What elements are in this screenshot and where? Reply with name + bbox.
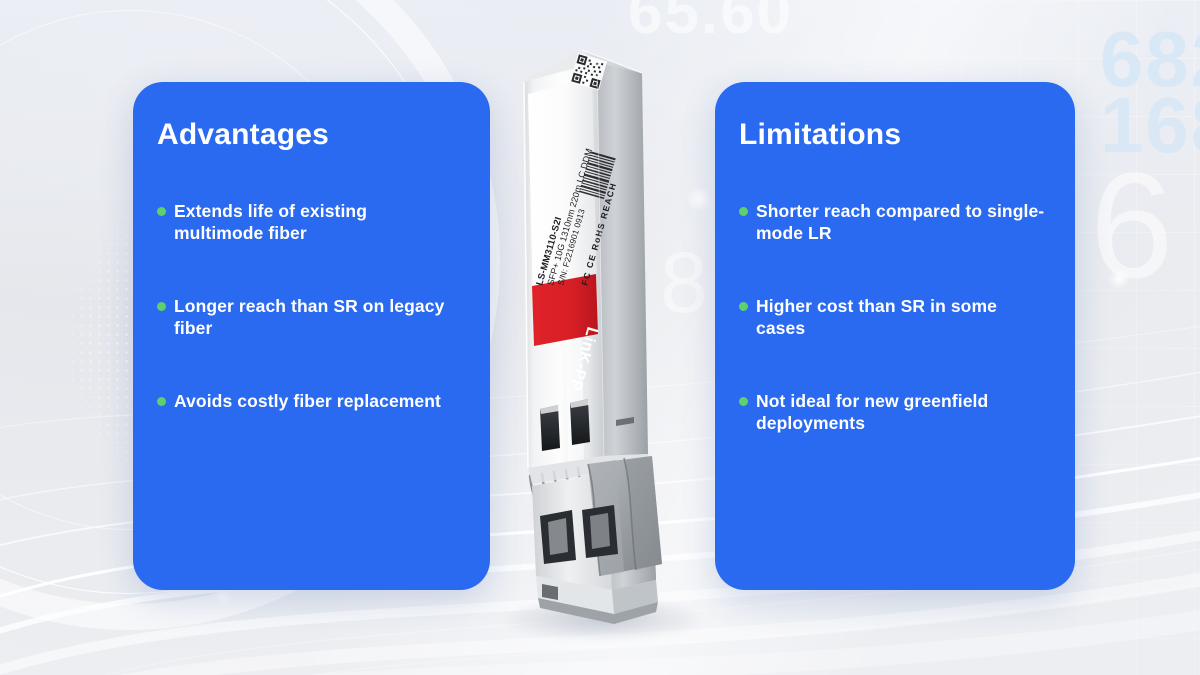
list-item: Longer reach than SR on legacy fiber [157, 295, 460, 340]
bullet-dot-icon [157, 302, 166, 311]
list-item: Shorter reach compared to single-mode LR [739, 200, 1045, 245]
list-item-text: Avoids costly fiber replacement [174, 391, 441, 411]
list-item-text: Extends life of existing multimode fiber [174, 201, 367, 243]
list-item-text: Higher cost than SR in some cases [756, 296, 997, 338]
card-limitations-bullet-list: Shorter reach compared to single-mode LR… [715, 152, 1075, 434]
sfp-transceiver-module: LS-MM3110-S2I SFP+ 10G 1310nm 220m LC DD… [466, 24, 734, 652]
list-item-text: Shorter reach compared to single-mode LR [756, 201, 1044, 243]
background-glow-spot-3 [214, 588, 232, 606]
card-limitations: Limitations Shorter reach compared to si… [715, 82, 1075, 590]
list-item: Extends life of existing multimode fiber [157, 200, 460, 245]
list-item-text: Not ideal for new greenfield deployments [756, 391, 988, 433]
bullet-dot-icon [157, 397, 166, 406]
list-item-text: Longer reach than SR on legacy fiber [174, 296, 444, 338]
bullet-dot-icon [739, 302, 748, 311]
list-item: Avoids costly fiber replacement [157, 390, 460, 412]
card-advantages-title: Advantages [133, 82, 490, 152]
background-numeral-2: 682 [1100, 20, 1200, 98]
list-item: Higher cost than SR in some cases [739, 295, 1045, 340]
card-advantages: Advantages Extends life of existing mult… [133, 82, 490, 590]
background-numeral-4: 6 [1090, 150, 1175, 300]
bullet-dot-icon [739, 397, 748, 406]
bullet-dot-icon [157, 207, 166, 216]
card-limitations-title: Limitations [715, 82, 1075, 152]
bullet-dot-icon [739, 207, 748, 216]
background-glow-spot-1 [1108, 268, 1130, 290]
card-advantages-bullet-list: Extends life of existing multimode fiber… [133, 152, 490, 412]
slide-canvas: 65.60 682 168 6 8 [0, 0, 1200, 675]
list-item: Not ideal for new greenfield deployments [739, 390, 1045, 435]
background-numeral-3: 168 [1100, 86, 1200, 164]
